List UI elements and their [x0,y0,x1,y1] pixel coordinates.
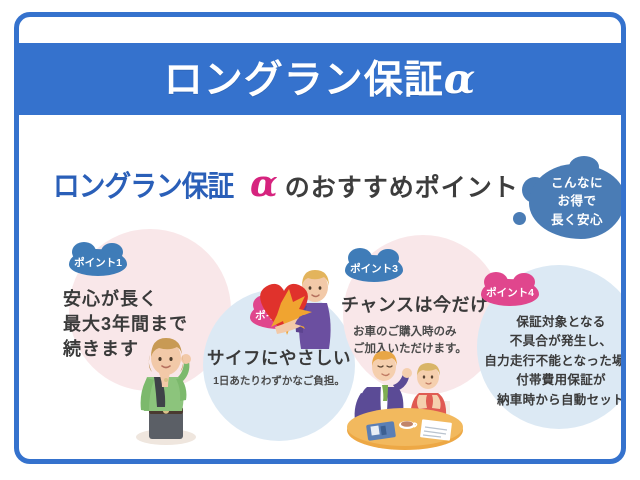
point-4-badge: ポイント4 [481,279,539,306]
point-1-badge-label: ポイント1 [74,255,122,270]
poster-frame: ロングラン保証α ロングラン保証 α のおすすめポイント こんなに お得で 長く… [14,12,626,464]
couple-at-table-illustration [337,347,473,458]
woman-raising-hand-illustration [123,333,209,450]
woman-holding-heart-illustration [251,269,347,374]
point-2-subtext: 1日あたりわずかなご負担。 [199,374,359,389]
headline: ロングラン保証 α のおすすめポイント [53,163,519,205]
point-1-badge: ポイント1 [69,249,127,276]
poster-title-main: ロングラン保証 [164,59,444,102]
speech-bubble: こんなに お得で 長く安心 [529,164,625,239]
point-3-badge: ポイント3 [345,255,403,282]
headline-alpha: α [250,163,278,205]
speech-bubble-line-3: 長く安心 [551,211,603,229]
point-4-badge-label: ポイント4 [486,285,534,300]
point-4: ポイント4 保証対象となる 不具合が発生し、 自力走行不能となった場合 付帯費用… [481,279,626,410]
speech-bubble-line-2: お得で [557,192,596,210]
promo-poster: ロングラン保証α ロングラン保証 α のおすすめポイント こんなに お得で 長く… [0,0,640,480]
speech-bubble-tail [513,212,526,225]
point-3-badge-label: ポイント3 [350,261,398,276]
speech-bubble-line-1: こんなに [551,174,603,192]
headline-brand: ロングラン保証 [53,163,233,205]
headline-rest: のおすすめポイント [285,168,519,204]
point-4-heading: 保証対象となる 不具合が発生し、 自力走行不能となった場合 付帯費用保証が 納車… [481,313,626,410]
poster-title-alpha: α [444,55,477,103]
title-band: ロングラン保証α [19,43,621,115]
speech-bubble-text: こんなに お得で 長く安心 [529,164,625,239]
poster-title: ロングラン保証α [164,59,477,100]
